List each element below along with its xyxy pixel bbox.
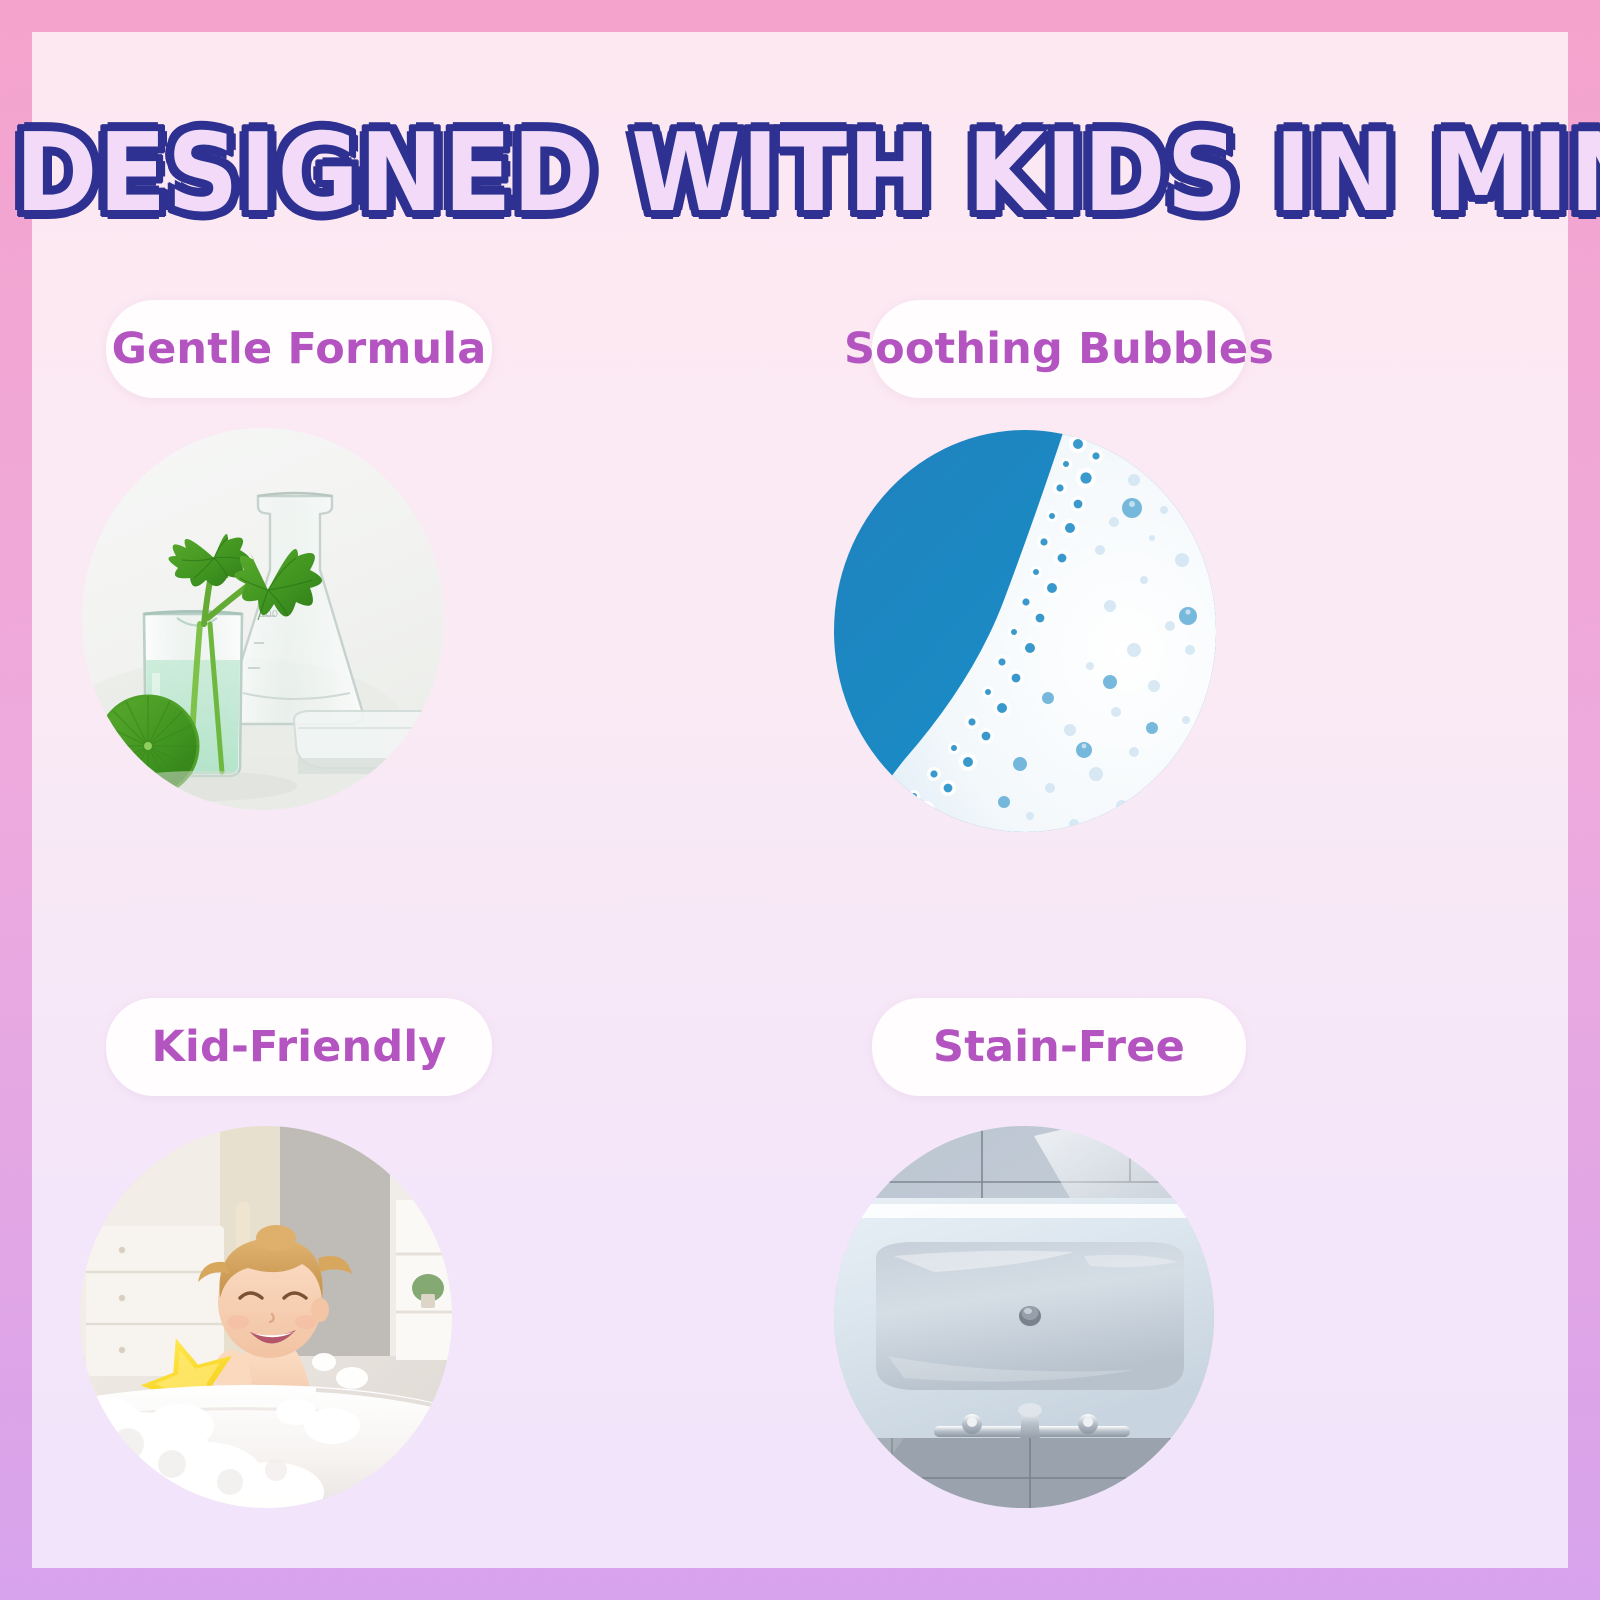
feature-card-soothing-bubbles: Soothing Bubbles (832, 300, 1600, 890)
page-title: DESIGNED WITH KIDS IN MIND (15, 120, 1600, 228)
feature-label-4: Stain-Free (933, 1022, 1185, 1072)
feature-card-stain-free: Stain-Free (832, 998, 1600, 1588)
feature-label-pill-1: Gentle Formula (106, 300, 492, 398)
poster-frame: DESIGNED WITH KIDS IN MIND Gentle Formul… (32, 32, 1568, 1568)
feature-label-pill-2: Soothing Bubbles (872, 300, 1246, 398)
feature-card-kid-friendly: Kid-Friendly (64, 998, 832, 1588)
clean-bathtub-illustration (834, 1126, 1214, 1508)
feature-image-3-child-in-bathtub (80, 1126, 452, 1508)
feature-label-pill-3: Kid-Friendly (106, 998, 492, 1096)
lab-glassware-illustration: 100 (82, 428, 444, 810)
feature-label-1: Gentle Formula (112, 324, 487, 374)
feature-label-pill-4: Stain-Free (872, 998, 1246, 1096)
feature-image-2-foam-bubbles (834, 430, 1216, 832)
feature-image-4-clean-bathtub (834, 1126, 1214, 1508)
feature-label-3: Kid-Friendly (152, 1022, 447, 1072)
feature-label-2: Soothing Bubbles (844, 324, 1274, 374)
feature-grid: Gentle Formula (64, 300, 1600, 1588)
foam-bubbles-illustration (834, 430, 1216, 832)
feature-card-gentle-formula: Gentle Formula (64, 300, 832, 890)
child-in-bathtub-illustration (80, 1126, 452, 1508)
page-title-container: DESIGNED WITH KIDS IN MIND (32, 120, 1568, 250)
feature-image-1-lab-glassware: 100 (82, 428, 444, 810)
